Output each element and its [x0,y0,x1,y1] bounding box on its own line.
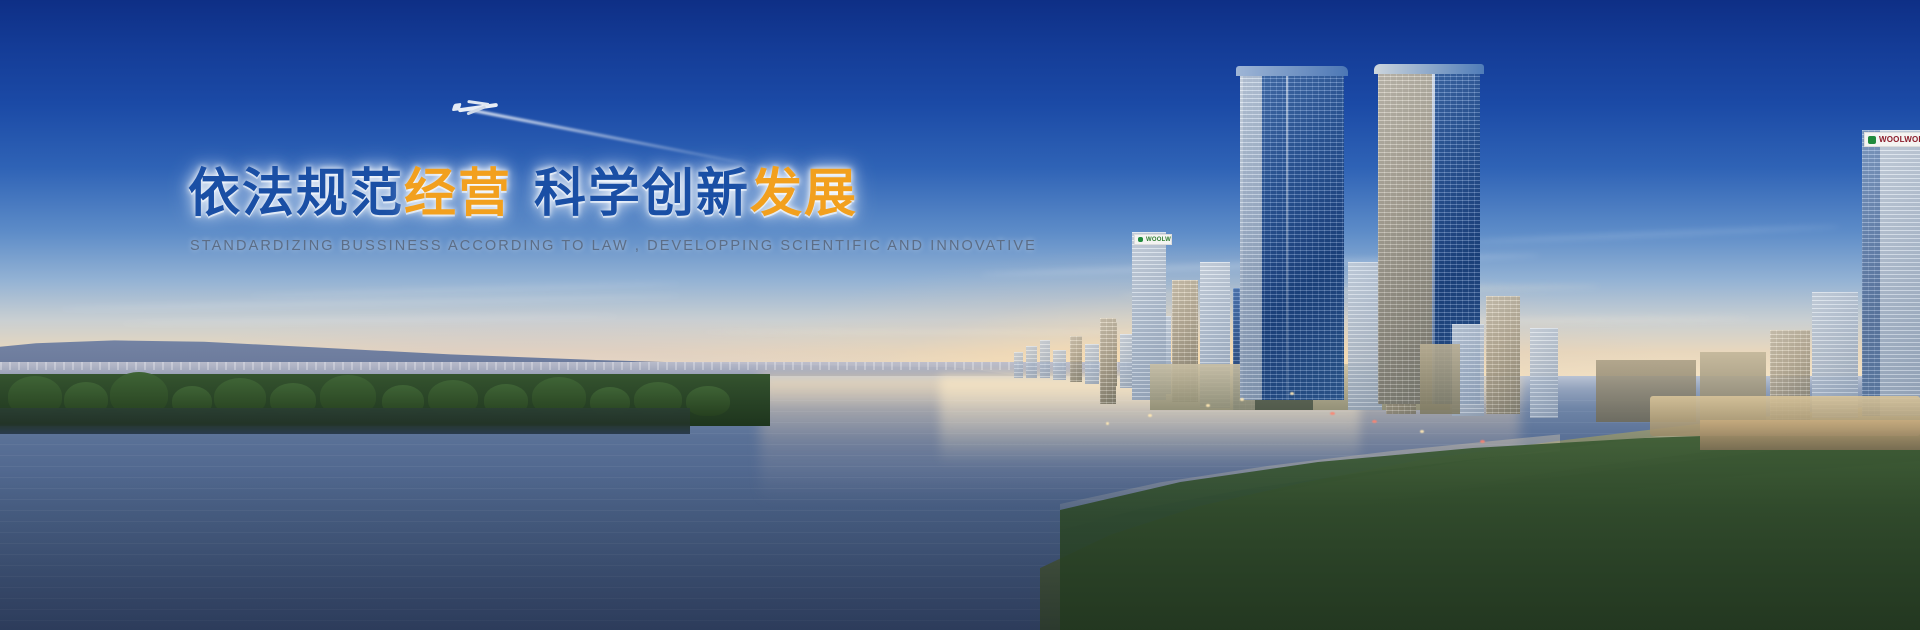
street-light [1240,398,1244,401]
banner-image: WOOLWORTHS [0,0,1920,630]
glass-tower-left-crown [1236,66,1348,76]
woolworths-sign: WOOLWORTHS [1864,132,1920,147]
street-light [1106,422,1109,425]
banner-headline: 依法规范经营科学创新发展 [188,168,948,220]
headline-segment-1-accent: 经营 [404,164,512,224]
street-light [1420,430,1424,433]
distant-building [1014,352,1023,378]
banner-copy: 依法规范经营科学创新发展 STANDARDIZING BUSSINESS ACC… [188,168,948,254]
distant-building [1085,344,1099,384]
street-light [1148,414,1152,417]
tower-sign-mid: WOOLWORTHS [1134,234,1172,245]
distant-building [1070,336,1082,382]
headline-segment-1: 依法规范 [188,164,404,224]
distant-building [1026,346,1037,378]
distant-building [1053,350,1066,380]
headline-segment-2-accent: 发展 [750,164,858,224]
distant-building [1040,340,1050,378]
city-skyline: WOOLWORTHS [0,0,1920,630]
car-taillight [1330,412,1335,415]
mid-building [1348,262,1382,410]
woolworths-logo-icon [1868,136,1876,144]
banner-subheadline: STANDARDIZING BUSSINESS ACCORDING TO LAW… [190,238,948,254]
woolworths-sign-text: WOOLWORTHS [1879,136,1920,144]
car-taillight [1372,420,1377,423]
right-building [1486,296,1520,414]
right-building [1420,344,1460,414]
woolworths-tower-facet [1862,130,1880,416]
tower-sign-mid-text: WOOLWORTHS [1146,237,1172,243]
street-light [1290,392,1294,395]
street-light [1206,404,1210,407]
mid-building [1100,318,1116,404]
glass-tower-right-crown [1374,64,1484,74]
headline-segment-2: 科学创新 [534,164,750,224]
retail-podium [1700,420,1920,450]
right-building [1530,328,1558,418]
glass-tower-left-facet [1240,70,1262,400]
car-taillight [1480,440,1485,443]
